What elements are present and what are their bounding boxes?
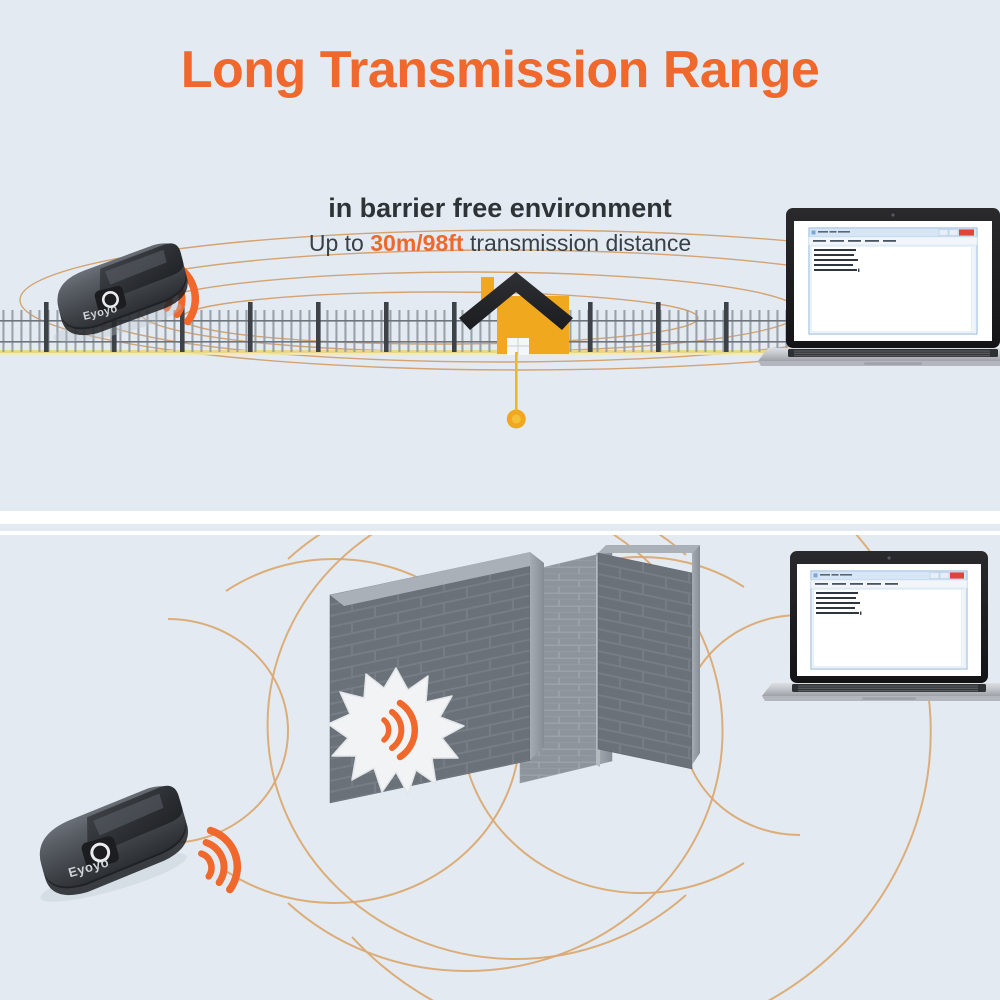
distance-value-1: 30m/98ft [370,230,463,256]
wall-right-side [692,545,700,765]
barcode-scanner-2[interactable]: Eyoyo [20,781,199,911]
infographic-page: Eyoyo [0,0,1000,1000]
map-pin-icon [507,352,526,429]
notepad-menu-bar-2[interactable] [815,583,898,585]
notepad-window-2[interactable] [811,571,967,669]
sub-prefix-1: Up to [309,230,370,256]
wall-left-side [530,552,544,760]
section-title-barrier-free: in barrier free environment [0,193,1000,224]
section-under-obstacles: Eyoyo [0,535,1000,1000]
wifi-signal-icon-2 [195,826,245,895]
section-divider-strip [0,524,1000,531]
wall-right-top [598,545,700,553]
laptop-2 [762,551,1000,701]
page-title: Long Transmission Range [0,40,1000,100]
section-divider-top [0,511,1000,524]
window-icon-2 [814,573,818,577]
section-subtitle-barrier-free: Up to 30m/98ft transmission distance [0,230,1000,257]
window-controls-2[interactable] [930,572,964,578]
wall-right-block [598,553,692,769]
window-title-text-2 [820,574,852,576]
sub-suffix-1: transmission distance [464,230,692,256]
under-obstacles-scene: Eyoyo [0,535,1000,1000]
